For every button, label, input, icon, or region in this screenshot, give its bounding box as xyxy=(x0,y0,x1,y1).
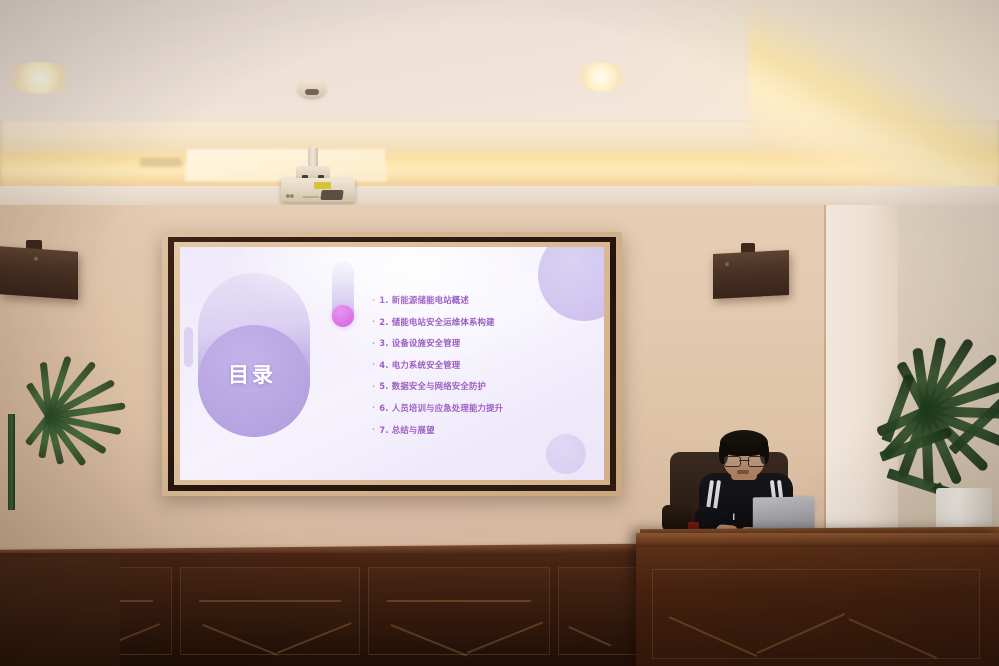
projector-label xyxy=(314,182,331,189)
wainscot-chevron xyxy=(391,624,468,656)
wall-speaker-left xyxy=(0,246,78,299)
cove-light-strip-right xyxy=(749,0,999,200)
podium-front-panel xyxy=(652,569,980,659)
wainscot-panel xyxy=(558,567,640,655)
toc-item: · 2. 储能电站安全运维体系构建 xyxy=(372,316,600,328)
palm-plant-left xyxy=(0,318,114,508)
toc-item-label: 1. 新能源储能电站概述 xyxy=(379,294,469,306)
toc-bullet-icon: · xyxy=(372,425,375,434)
podium-chevron xyxy=(669,616,757,656)
ceiling-downlight-icon xyxy=(2,62,76,94)
toc-bullet-icon: · xyxy=(372,360,375,369)
eyeglass-lens xyxy=(748,456,765,467)
plant-stem xyxy=(8,414,15,510)
smoke-detector-icon xyxy=(298,79,326,97)
wainscot-line xyxy=(199,600,341,602)
projector-model-text: ▭▭▭▭ xyxy=(303,194,319,199)
toc-item-label: 6. 人员培训与应急处理能力提升 xyxy=(379,402,503,414)
toc-bullet-icon: · xyxy=(372,382,375,391)
projector-vent xyxy=(320,190,343,200)
podium xyxy=(636,533,999,666)
slide-title: 目录 xyxy=(228,359,318,389)
wainscot-panel xyxy=(368,567,550,655)
wainscot-line xyxy=(387,600,531,602)
eyeglass-lens xyxy=(724,456,741,467)
wainscot-panel xyxy=(180,567,360,655)
toc-item: · 5. 数据安全与网络安全防护 xyxy=(372,380,600,392)
toc-item: · 7. 总结与展望 xyxy=(372,424,600,436)
podium-chevron xyxy=(849,618,937,658)
toc-item-label: 3. 设备设施安全管理 xyxy=(379,337,460,349)
ceiling-downlight-icon xyxy=(572,62,630,92)
wainscot-chevron xyxy=(277,622,352,653)
podium-top-trim xyxy=(636,533,999,547)
toc-item: · 1. 新能源储能电站概述 xyxy=(372,294,600,306)
toc-item-label: 7. 总结与展望 xyxy=(379,424,434,436)
toc-item-label: 2. 储能电站安全运维体系构建 xyxy=(379,316,494,328)
floor-shadow-left xyxy=(0,557,120,666)
toc-item: · 6. 人员培训与应急处理能力提升 xyxy=(372,402,600,414)
projected-slide: 目录 · 1. 新能源储能电站概述 · 2. 储能电站安全运维体系构建 · 3.… xyxy=(180,247,604,480)
toc-item: · 4. 电力系统安全管理 xyxy=(372,359,600,371)
toc-bullet-icon: · xyxy=(372,296,375,305)
slide-decoration-pill-thin xyxy=(184,327,193,367)
projector-brand-text: ▩▩ xyxy=(286,193,294,198)
speaker-led-icon xyxy=(725,262,729,266)
toc-item-label: 5. 数据安全与网络安全防护 xyxy=(379,380,486,392)
wainscot-chevron xyxy=(467,621,544,653)
toc-item-label: 4. 电力系统安全管理 xyxy=(379,359,460,371)
toc-bullet-icon: · xyxy=(372,403,375,412)
slide-table-of-contents: · 1. 新能源储能电站概述 · 2. 储能电站安全运维体系构建 · 3. 设备… xyxy=(372,294,600,445)
podium-chevron xyxy=(757,613,845,653)
wainscot-chevron xyxy=(569,626,612,646)
ceiling-light-panel xyxy=(185,149,388,181)
ceiling-projector: ▩▩ ▭▭▭▭ xyxy=(281,178,355,202)
toc-bullet-icon: · xyxy=(372,339,375,348)
ceiling-vent-icon xyxy=(140,158,182,167)
wainscot-chevron xyxy=(203,624,278,655)
speaker-led-icon xyxy=(34,257,38,261)
toc-item: · 3. 设备设施安全管理 xyxy=(372,337,600,349)
person-mouth xyxy=(737,470,749,474)
eyeglasses-icon xyxy=(724,456,765,465)
wall-speaker-right xyxy=(713,250,789,299)
slide-decoration-magenta-dot xyxy=(332,305,354,327)
conference-room-photo: ▩▩ ▭▭▭▭ 目录 · 1. 新能源储能电站概述 · xyxy=(0,0,999,666)
toc-bullet-icon: · xyxy=(372,317,375,326)
